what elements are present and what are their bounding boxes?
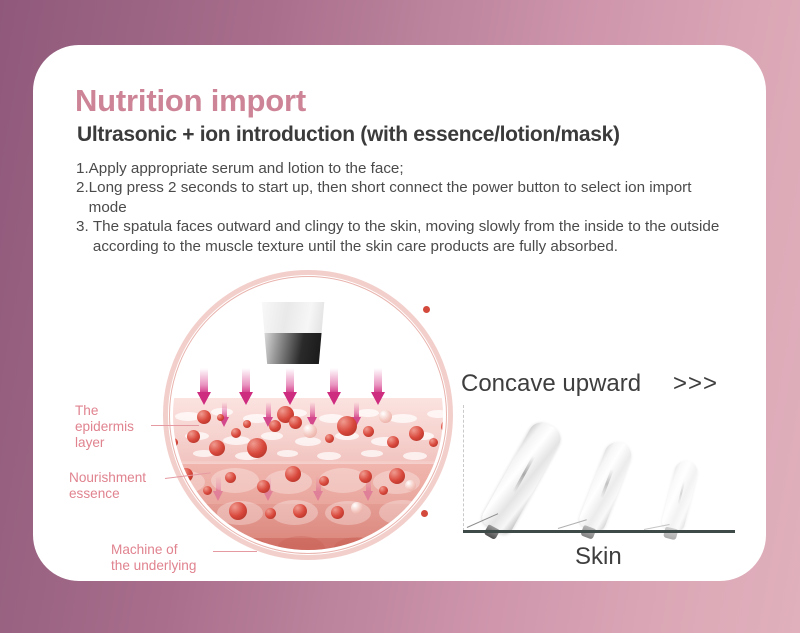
device-illustration <box>660 458 699 532</box>
label-epidermis: The epidermis layer <box>75 403 134 451</box>
label-nourishment: Nourishment essence <box>69 470 146 502</box>
step-text: Apply appropriate serum and lotion to th… <box>89 159 726 178</box>
device-angle-diagram: Concave upward >>> Skin <box>425 315 745 575</box>
step-text: The spatula faces outward and clingy to … <box>93 217 726 256</box>
list-item: 3. The spatula faces outward and clingy … <box>76 217 726 256</box>
skin-label: Skin <box>575 543 622 571</box>
device-spatula-tip <box>663 526 678 540</box>
page-title: Nutrition import <box>75 83 306 119</box>
step-number: 1. <box>76 159 89 178</box>
chevron-right-icon: >>> <box>673 370 718 398</box>
leader-line <box>151 425 199 426</box>
device-groove <box>677 482 685 506</box>
ring-accent-dot <box>423 306 430 313</box>
skin-cross-section-diagram: The epidermis layer Nourishment essence … <box>73 270 453 575</box>
device-illustration <box>479 418 565 537</box>
device-groove <box>600 468 614 498</box>
step-number: 2. <box>76 178 89 197</box>
decorative-ring-inner <box>169 276 447 554</box>
step-text: Long press 2 seconds to start up, then s… <box>89 178 726 217</box>
content-card: Nutrition import Ultrasonic + ion introd… <box>33 45 766 581</box>
list-item: 1. Apply appropriate serum and lotion to… <box>76 159 726 178</box>
device-groove <box>513 456 535 492</box>
label-underlying: Machine of the underlying <box>111 542 196 574</box>
step-number: 3. <box>76 217 93 236</box>
skin-surface-line <box>463 530 735 533</box>
instruction-list: 1. Apply appropriate serum and lotion to… <box>76 159 726 256</box>
page-subtitle: Ultrasonic + ion introduction (with esse… <box>77 123 620 147</box>
concave-upward-label: Concave upward <box>461 370 641 398</box>
list-item: 2. Long press 2 seconds to start up, the… <box>76 178 726 217</box>
vertical-guide-line <box>463 405 464 531</box>
leader-line <box>213 551 257 552</box>
